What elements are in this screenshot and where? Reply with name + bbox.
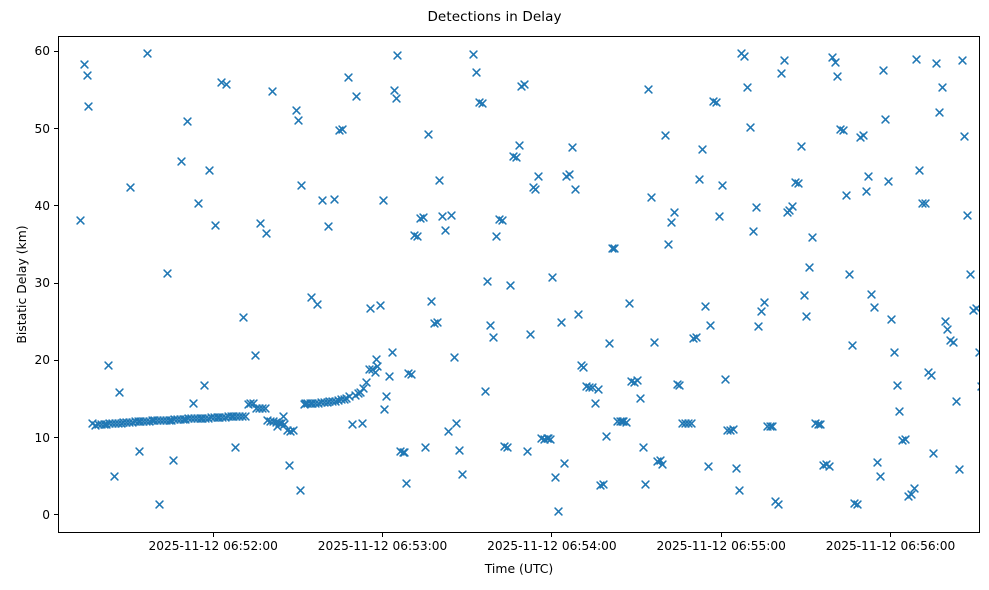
- scatter-point: [392, 94, 401, 103]
- scatter-point: [229, 412, 238, 421]
- scatter-point: [729, 425, 738, 434]
- scatter-point: [104, 361, 113, 370]
- scatter-point: [351, 391, 360, 400]
- scatter-point: [788, 202, 797, 211]
- scatter-point: [737, 49, 746, 58]
- scatter-point: [452, 419, 461, 428]
- scatter-point: [647, 193, 656, 202]
- scatter-point: [294, 116, 303, 125]
- scatter-point: [475, 98, 484, 107]
- scatter-point: [921, 199, 930, 208]
- scatter-point: [179, 415, 188, 424]
- x-tick-label: 2025-11-12 06:52:00: [148, 539, 277, 553]
- scatter-point: [531, 185, 540, 194]
- scatter-point: [198, 414, 207, 423]
- scatter-point: [785, 206, 794, 215]
- scatter-point: [438, 212, 447, 221]
- scatter-point: [139, 417, 148, 426]
- scatter-point: [498, 216, 507, 225]
- scatter-point: [819, 461, 828, 470]
- scatter-point: [131, 417, 140, 426]
- scatter-point: [444, 427, 453, 436]
- scatter-point: [802, 312, 811, 321]
- scatter-point: [585, 383, 594, 392]
- scatter-point: [667, 218, 676, 227]
- scatter-point: [664, 240, 673, 249]
- scatter-point: [266, 417, 275, 426]
- scatter-point: [627, 377, 636, 386]
- scatter-point: [325, 397, 334, 406]
- scatter-point: [458, 470, 467, 479]
- scatter-point: [839, 126, 848, 135]
- scatter-point: [365, 365, 374, 374]
- scatter-point: [952, 397, 961, 406]
- scatter-point: [221, 413, 230, 422]
- scatter-point: [794, 179, 803, 188]
- scatter-point: [102, 420, 111, 429]
- scatter-point: [447, 211, 456, 220]
- scatter-point: [712, 98, 721, 107]
- scatter-point: [591, 399, 600, 408]
- scatter-point: [427, 297, 436, 306]
- scatter-point: [368, 365, 377, 374]
- scatter-point: [115, 388, 124, 397]
- scatter-point: [486, 321, 495, 330]
- scatter-point: [297, 181, 306, 190]
- scatter-point: [887, 315, 896, 324]
- scatter-point: [757, 307, 766, 316]
- scatter-point: [836, 125, 845, 134]
- scatter-point: [207, 413, 216, 422]
- scatter-point: [630, 378, 639, 387]
- scatter-point: [184, 414, 193, 423]
- scatter-point: [91, 421, 100, 430]
- scatter-point: [238, 412, 247, 421]
- scatter-point: [641, 480, 650, 489]
- scatter-point: [317, 398, 326, 407]
- scatter-point: [249, 399, 258, 408]
- scatter-point: [503, 443, 512, 452]
- scatter-point: [636, 394, 645, 403]
- scatter-point: [134, 417, 143, 426]
- scatter-point: [217, 78, 226, 87]
- scatter-point: [489, 333, 498, 342]
- scatter-point: [402, 479, 411, 488]
- scatter-point: [324, 222, 333, 231]
- scatter-point: [692, 333, 701, 342]
- scatter-point: [143, 49, 152, 58]
- scatter-point: [255, 404, 264, 413]
- scatter-point: [239, 313, 248, 322]
- scatter-point: [791, 178, 800, 187]
- scatter-point: [650, 338, 659, 347]
- scatter-point: [924, 368, 933, 377]
- scatter-point: [231, 443, 240, 452]
- scatter-point: [80, 60, 89, 69]
- scatter-point: [492, 232, 501, 241]
- x-tick-mark-group: [58, 533, 980, 538]
- scatter-point: [938, 83, 947, 92]
- scatter-point: [390, 86, 399, 95]
- scatter-point: [963, 211, 972, 220]
- scatter-point: [876, 472, 885, 481]
- scatter-point: [859, 131, 868, 140]
- scatter-point: [163, 269, 172, 278]
- scatter-point: [517, 82, 526, 91]
- scatter-point: [187, 414, 196, 423]
- scatter-point: [292, 106, 301, 115]
- scatter-point: [111, 419, 120, 428]
- scatter-point: [904, 492, 913, 501]
- scatter-point: [156, 416, 165, 425]
- scatter-point: [754, 322, 763, 331]
- scatter-point: [571, 185, 580, 194]
- x-tick-mark: [382, 533, 383, 537]
- scatter-point: [588, 383, 597, 392]
- scatter-point: [520, 80, 529, 89]
- scatter-point: [275, 419, 284, 428]
- scatter-point: [619, 417, 628, 426]
- scatter-point: [122, 418, 131, 427]
- scatter-point: [385, 372, 394, 381]
- scatter-point: [189, 399, 198, 408]
- scatter-point: [354, 389, 363, 398]
- x-tick-label: 2025-11-12 06:56:00: [826, 539, 955, 553]
- y-tick-label-group: 0102030405060: [0, 36, 50, 533]
- page-title: Detections in Delay: [0, 9, 989, 25]
- scatter-point: [235, 412, 244, 421]
- scatter-point: [481, 387, 490, 396]
- scatter-point: [258, 404, 267, 413]
- scatter-point: [352, 92, 361, 101]
- scatter-point: [142, 417, 151, 426]
- scatter-point: [153, 416, 162, 425]
- scatter-point: [441, 226, 450, 235]
- scatter-point: [419, 213, 428, 222]
- scatter-point: [244, 400, 253, 409]
- scatter-point: [114, 419, 123, 428]
- scatter-point: [301, 399, 310, 408]
- scatter-point: [870, 303, 879, 312]
- scatter-point: [740, 52, 749, 61]
- scatter-point: [308, 399, 317, 408]
- scatter-point: [307, 293, 316, 302]
- scatter-point: [345, 392, 354, 401]
- scatter-point: [726, 426, 735, 435]
- scatter-point: [732, 464, 741, 473]
- scatter-point: [340, 395, 349, 404]
- scatter-point: [534, 172, 543, 181]
- x-tick-mark: [551, 533, 552, 537]
- scatter-point: [557, 318, 566, 327]
- scatter-point: [915, 166, 924, 175]
- scatter-point: [946, 336, 955, 345]
- scatter-point: [822, 460, 831, 469]
- scatter-point: [605, 339, 614, 348]
- scatter-point: [148, 416, 157, 425]
- scatter-point: [135, 447, 144, 456]
- scatter-point: [543, 434, 552, 443]
- scatter-point: [709, 97, 718, 106]
- scatter-point: [893, 381, 902, 390]
- scatter-point: [88, 419, 97, 428]
- scatter-point: [814, 420, 823, 429]
- y-tick-label: 20: [34, 353, 50, 367]
- scatter-point: [196, 414, 205, 423]
- scatter-point: [596, 481, 605, 490]
- scatter-point: [780, 56, 789, 65]
- scatter-point: [262, 229, 271, 238]
- scatter-point: [97, 420, 106, 429]
- scatter-point: [881, 115, 890, 124]
- scatter-point: [554, 507, 563, 516]
- scatter-point: [344, 73, 353, 82]
- scatter-point: [808, 233, 817, 242]
- scatter-point: [602, 432, 611, 441]
- scatter-point: [331, 397, 340, 406]
- figure: Detections in Delay Bistatic Delay (km) …: [0, 0, 989, 590]
- scatter-point: [311, 399, 320, 408]
- scatter-point: [227, 412, 236, 421]
- scatter-point: [540, 435, 549, 444]
- scatter-point: [515, 141, 524, 150]
- scatter-point: [200, 381, 209, 390]
- scatter-point: [760, 298, 769, 307]
- scatter-point: [723, 426, 732, 435]
- scatter-point: [958, 56, 967, 65]
- scatter-point: [912, 55, 921, 64]
- scatter-point: [273, 422, 282, 431]
- scatter-point: [279, 412, 288, 421]
- scatter-point: [884, 177, 893, 186]
- scatter-point: [165, 416, 174, 425]
- scatter-point: [396, 447, 405, 456]
- scatter-point: [783, 208, 792, 217]
- scatter-point: [579, 363, 588, 372]
- scatter-point: [918, 199, 927, 208]
- scatter-point: [268, 87, 277, 96]
- scatter-point: [828, 53, 837, 62]
- x-tick-label: 2025-11-12 06:53:00: [318, 539, 447, 553]
- scatter-point: [752, 203, 761, 212]
- scatter-point: [272, 418, 281, 427]
- scatter-point: [777, 69, 786, 78]
- scatter-point: [382, 392, 391, 401]
- scatter-point: [618, 417, 627, 426]
- scatter-point: [372, 355, 381, 364]
- scatter-point: [388, 348, 397, 357]
- scatter-point: [771, 497, 780, 506]
- scatter-point: [400, 448, 409, 457]
- scatter-point: [283, 426, 292, 435]
- scatter-point: [577, 361, 586, 370]
- scatter-point: [128, 418, 137, 427]
- scatter-point: [358, 419, 367, 428]
- scatter-point: [241, 412, 250, 421]
- scatter-point: [678, 419, 687, 428]
- scatter-point: [380, 405, 389, 414]
- scatter-point: [218, 413, 227, 422]
- scatter-point: [873, 458, 882, 467]
- scatter-point: [972, 304, 980, 313]
- y-tick-label: 60: [34, 44, 50, 58]
- scatter-point: [735, 486, 744, 495]
- scatter-point: [300, 400, 309, 409]
- scatter-point: [162, 416, 171, 425]
- scatter-point: [574, 310, 583, 319]
- scatter-point: [359, 384, 368, 393]
- scatter-point: [695, 175, 704, 184]
- scatter-point: [435, 176, 444, 185]
- scatter-point: [483, 277, 492, 286]
- x-tick-label-group: 2025-11-12 06:52:002025-11-12 06:53:0020…: [58, 539, 980, 555]
- scatter-point: [715, 212, 724, 221]
- scatter-point: [929, 449, 938, 458]
- scatter-point: [181, 415, 190, 424]
- scatter-point: [526, 330, 535, 339]
- scatter-point: [879, 66, 888, 75]
- scatter-point: [670, 208, 679, 217]
- scatter-point: [966, 270, 975, 279]
- scatter-point: [177, 157, 186, 166]
- scatter-point: [280, 420, 289, 429]
- scatter-point: [201, 414, 210, 423]
- scatter-point: [960, 132, 969, 141]
- scatter-point: [706, 321, 715, 330]
- scatter-point: [94, 420, 103, 429]
- scatter-point: [537, 434, 546, 443]
- scatter-point: [568, 143, 577, 152]
- y-tick-label: 50: [34, 122, 50, 136]
- scatter-point: [599, 480, 608, 489]
- scatter-point: [100, 420, 109, 429]
- scatter-point: [927, 371, 936, 380]
- scatter-point: [675, 381, 684, 390]
- scatter-point: [842, 191, 851, 200]
- scatter-point: [119, 418, 128, 427]
- scatter-point: [551, 473, 560, 482]
- x-tick-label: 2025-11-12 06:55:00: [656, 539, 785, 553]
- scatter-point: [698, 145, 707, 154]
- scatter-point: [743, 83, 752, 92]
- scatter-point: [856, 133, 865, 142]
- scatter-point: [289, 426, 298, 435]
- scatter-point: [173, 415, 182, 424]
- scatter-point: [373, 362, 382, 371]
- scatter-point: [167, 416, 176, 425]
- scatter-point: [853, 500, 862, 509]
- scatter-point: [673, 380, 682, 389]
- scatter-point: [193, 414, 202, 423]
- scatter-point: [977, 382, 980, 391]
- scatter-point: [105, 419, 114, 428]
- scatter-point: [320, 398, 329, 407]
- scatter-point: [318, 196, 327, 205]
- scatter-point: [126, 183, 135, 192]
- scatter-point: [955, 465, 964, 474]
- scatter-point: [478, 99, 487, 108]
- scatter-point: [721, 375, 730, 384]
- scatter-point: [407, 370, 416, 379]
- x-tick-mark: [721, 533, 722, 537]
- scatter-point: [379, 196, 388, 205]
- scatter-point: [117, 419, 126, 428]
- scatter-point: [252, 404, 261, 413]
- scatter-point: [656, 456, 665, 465]
- scatter-point: [681, 419, 690, 428]
- scatter-point: [901, 435, 910, 444]
- scatter-point: [895, 407, 904, 416]
- x-tick-mark: [213, 533, 214, 537]
- scatter-point: [169, 456, 178, 465]
- scatter-point: [176, 415, 185, 424]
- scatter-point: [190, 414, 199, 423]
- scatter-point: [145, 417, 154, 426]
- scatter-point: [850, 499, 859, 508]
- scatter-point: [334, 396, 343, 405]
- scatter-point: [84, 102, 93, 111]
- scatter-point: [907, 490, 916, 499]
- scatter-point: [658, 460, 667, 469]
- scatter-point: [277, 419, 286, 428]
- scatter-point: [800, 291, 809, 300]
- scatter-point: [433, 318, 442, 327]
- scatter-point: [506, 281, 515, 290]
- scatter-point: [83, 71, 92, 80]
- scatter-point: [949, 338, 958, 347]
- scatter-point: [210, 413, 219, 422]
- scatter-point: [362, 378, 371, 387]
- scatter-point: [613, 417, 622, 426]
- scatter-point: [424, 130, 433, 139]
- scatter-point: [306, 399, 315, 408]
- scatter-point: [718, 181, 727, 190]
- scatter-point: [269, 417, 278, 426]
- scatter-point: [689, 334, 698, 343]
- scatter-point: [811, 419, 820, 428]
- scatter-point: [862, 187, 871, 196]
- scatter-point: [303, 399, 312, 408]
- scatter-point: [76, 216, 85, 225]
- scatter-point: [898, 436, 907, 445]
- x-tick-label: 2025-11-12 06:54:00: [487, 539, 616, 553]
- scatter-point: [376, 301, 385, 310]
- scatter-point: [125, 418, 134, 427]
- scatter-point: [845, 270, 854, 279]
- scatter-point: [204, 414, 213, 423]
- scatter-point: [416, 214, 425, 223]
- scatter-point: [108, 419, 117, 428]
- scatter-point: [213, 413, 222, 422]
- scatter-point: [348, 420, 357, 429]
- scatter-point: [684, 419, 693, 428]
- scatter-point: [622, 418, 631, 427]
- scatter-point: [746, 123, 755, 132]
- scatter-point: [215, 413, 224, 422]
- scatter-point: [910, 484, 919, 493]
- scatter-point: [337, 395, 346, 404]
- scatter-point: [653, 457, 662, 466]
- scatter-point: [768, 422, 777, 431]
- scatter-point: [890, 348, 899, 357]
- scatter-point: [371, 368, 380, 377]
- scatter-point: [544, 434, 553, 443]
- scatter-point: [159, 416, 168, 425]
- scatter-point: [450, 353, 459, 362]
- scatter-point: [313, 300, 322, 309]
- scatter-point: [848, 341, 857, 350]
- scatter-point: [211, 221, 220, 230]
